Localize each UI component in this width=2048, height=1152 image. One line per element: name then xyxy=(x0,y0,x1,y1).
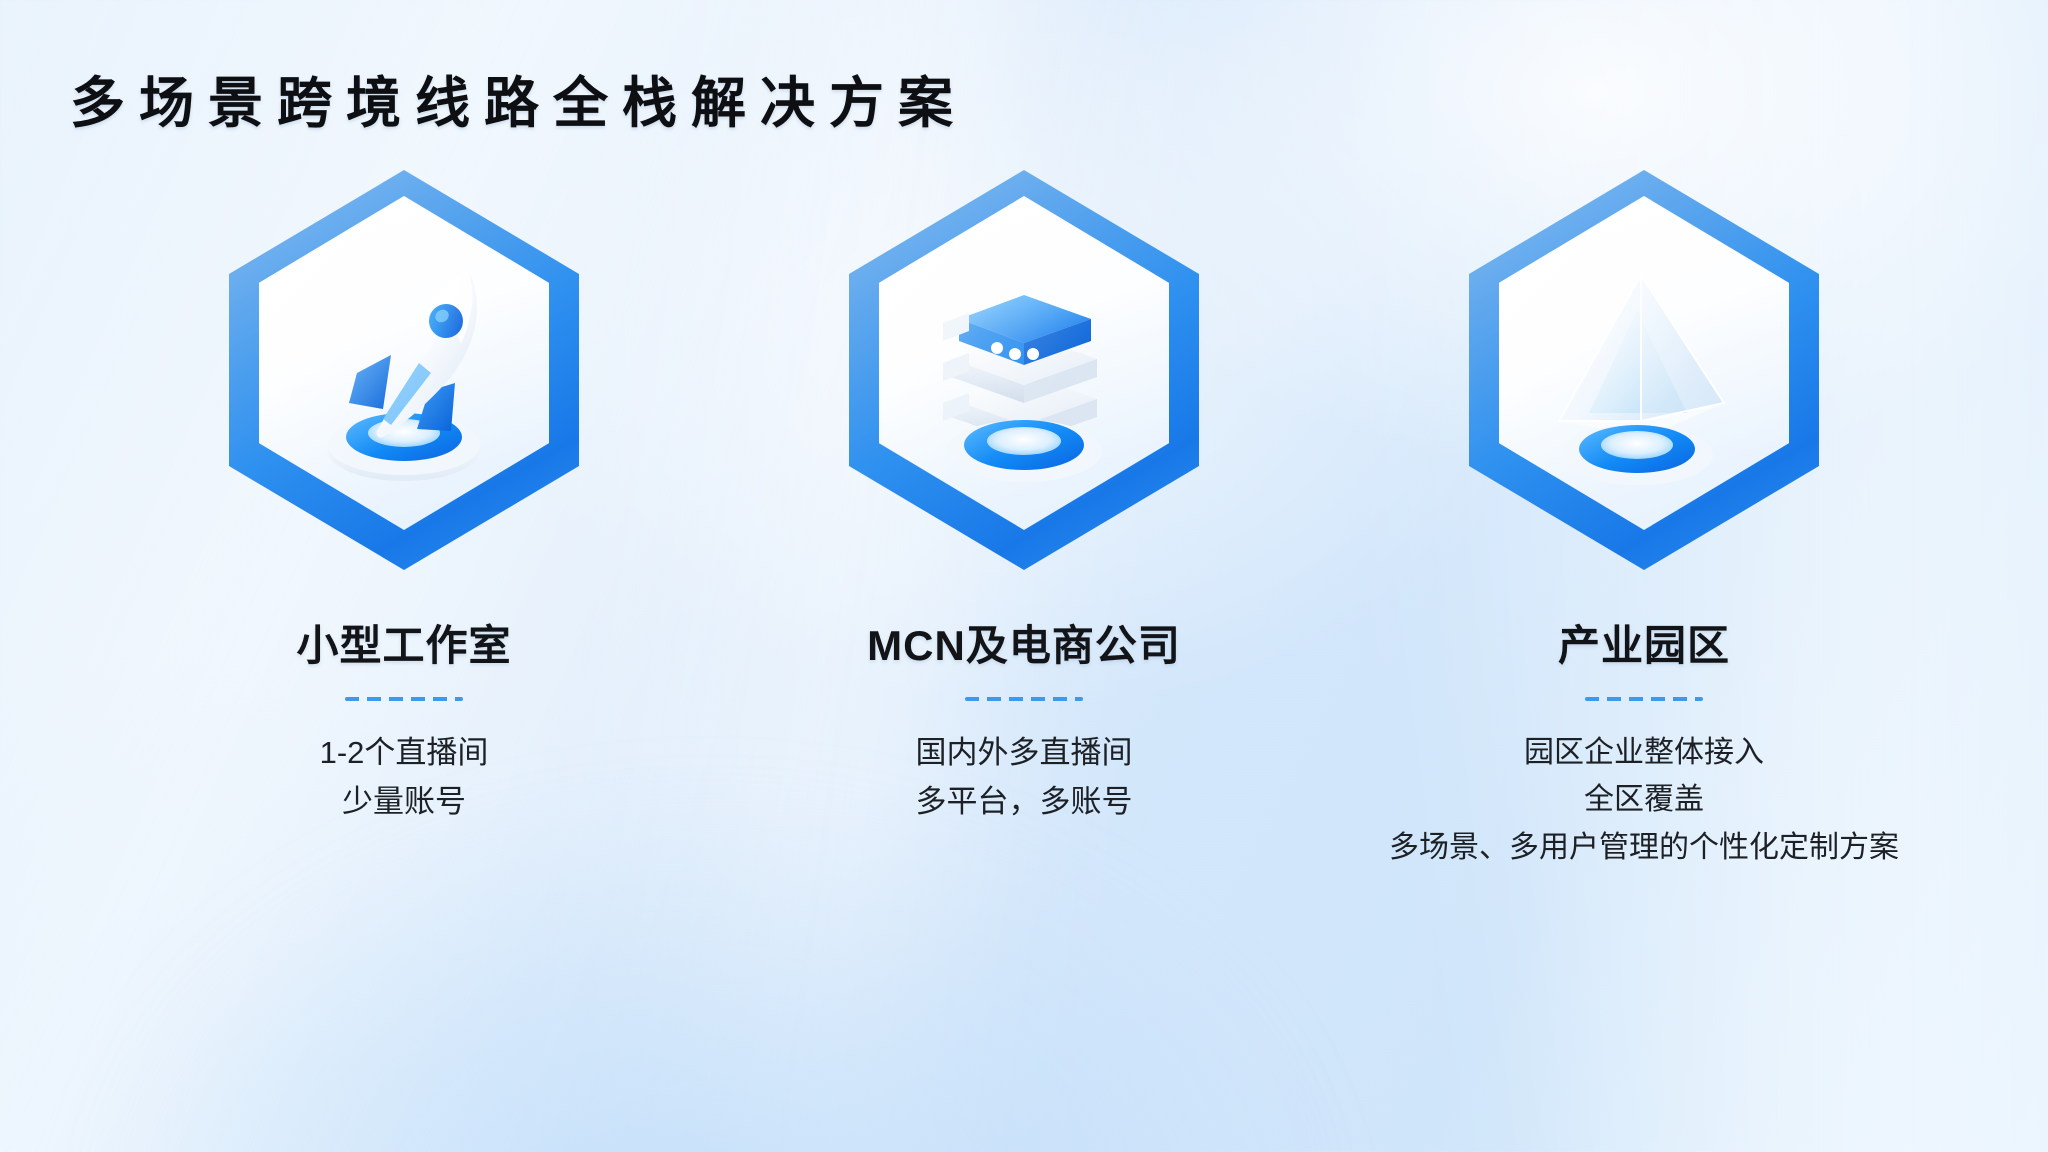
card-title: 小型工作室 xyxy=(296,612,511,673)
solution-card-mcn-ecommerce[interactable]: MCN及电商公司 国内外多直播间 多平台，多账号 xyxy=(714,170,1334,827)
solution-card-small-studio[interactable]: 小型工作室 1-2个直播间 少量账号 xyxy=(94,170,714,827)
card-title: MCN及电商公司 xyxy=(867,612,1181,673)
server-stack-icon xyxy=(879,196,1169,530)
card-divider xyxy=(1585,697,1703,701)
card-description-line: 全区覆盖 xyxy=(1389,776,1899,823)
card-description-line: 多平台，多账号 xyxy=(916,778,1133,827)
card-description: 1-2个直播间 少量账号 xyxy=(320,729,489,827)
card-description-line: 少量账号 xyxy=(320,778,489,827)
card-title: 产业园区 xyxy=(1558,612,1730,673)
solution-card-industrial-park[interactable]: 产业园区 园区企业整体接入 全区覆盖 多场景、多用户管理的个性化定制方案 xyxy=(1334,170,1954,871)
hexagon-badge xyxy=(209,170,599,600)
glass-pyramid-icon xyxy=(1499,196,1789,530)
hexagon-badge xyxy=(1449,170,1839,600)
card-description-line: 园区企业整体接入 xyxy=(1389,729,1899,776)
hexagon-badge xyxy=(829,170,1219,600)
card-divider xyxy=(965,697,1083,701)
rocket-icon xyxy=(259,196,549,530)
card-description-line: 1-2个直播间 xyxy=(320,729,489,778)
card-description: 园区企业整体接入 全区覆盖 多场景、多用户管理的个性化定制方案 xyxy=(1389,729,1899,871)
page-title: 多场景跨境线路全栈解决方案 xyxy=(70,58,967,138)
card-description: 国内外多直播间 多平台，多账号 xyxy=(916,729,1133,827)
card-description-line: 国内外多直播间 xyxy=(916,729,1133,778)
card-divider xyxy=(345,697,463,701)
solution-card-list: 小型工作室 1-2个直播间 少量账号 xyxy=(0,170,2048,871)
card-description-line: 多场景、多用户管理的个性化定制方案 xyxy=(1389,824,1899,871)
